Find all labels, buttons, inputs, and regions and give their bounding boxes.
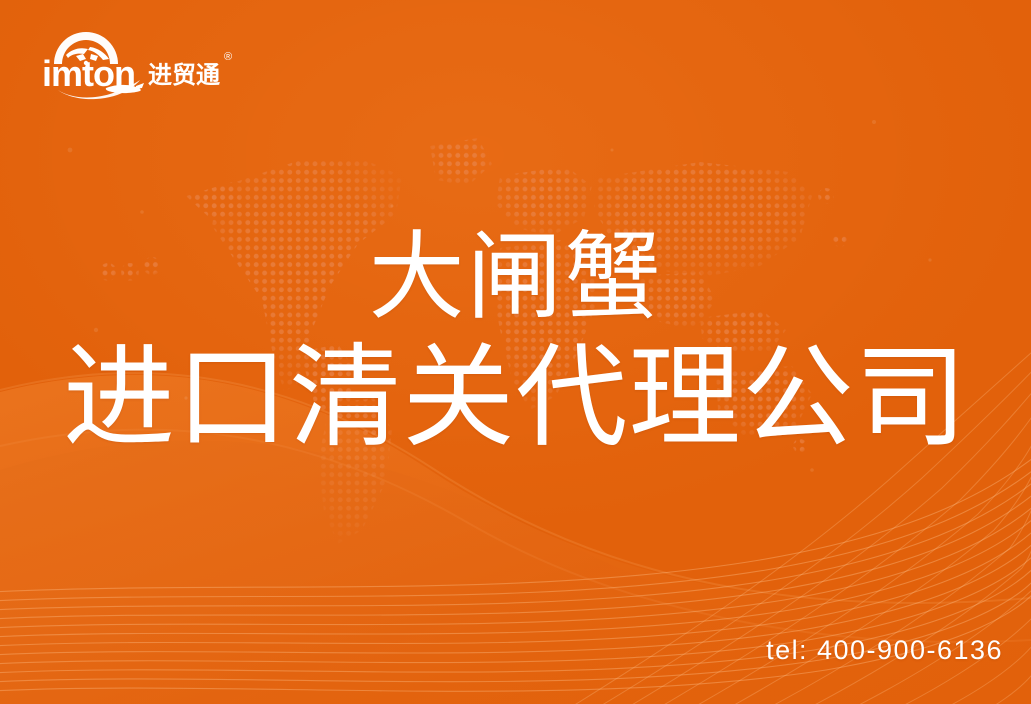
contact-telephone[interactable]: tel: 400-900-6136	[766, 635, 1003, 666]
banner-canvas: imton 进贸通 ® imton 进贸通 ® 大闸蟹 进口清关代理公司 tel…	[0, 0, 1031, 704]
registered-mark: ®	[224, 51, 232, 63]
headline-line-2: 进口清关代理公司	[0, 342, 1031, 454]
logo-chinese-text: 进贸通	[148, 61, 220, 89]
brand-logo[interactable]: imton 进贸通 ®	[36, 28, 244, 100]
headline-line-1: 大闸蟹	[0, 230, 1031, 326]
headline-block: 大闸蟹 进口清关代理公司	[0, 230, 1031, 454]
logo-latin-label: imton	[0, 0, 1, 1]
logo-latin-text: imton	[42, 53, 135, 94]
